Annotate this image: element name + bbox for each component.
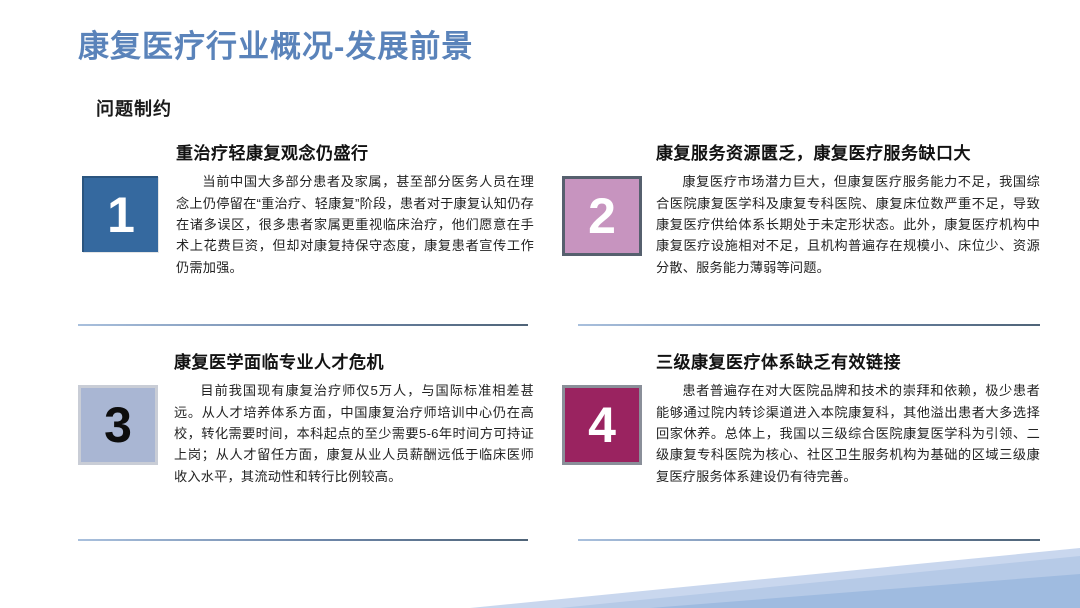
page-title-container: 康复医疗行业概况-发展前景 xyxy=(78,30,473,64)
decorative-corner-shape xyxy=(0,0,1080,608)
issue-number-badge-3: 3 xyxy=(78,385,158,465)
issue-text-1: 当前中国大多部分患者及家属，甚至部分医务人员在理念上仍停留在“重治疗、轻康复”阶… xyxy=(176,171,534,278)
issue-heading-3: 康复医学面临专业人才危机 xyxy=(174,352,534,373)
page-subtitle: 问题制约 xyxy=(96,95,172,121)
issue-card-2: 2 康复服务资源匮乏，康复医疗服务缺口大 康复医疗市场潜力巨大，但康复医疗服务能… xyxy=(562,143,1040,278)
divider-mid-right xyxy=(578,324,1040,326)
issue-number-column-3: 3 xyxy=(78,352,158,465)
issue-card-1: 1 重治疗轻康复观念仍盛行 当前中国大多部分患者及家属，甚至部分医务人员在理念上… xyxy=(82,143,534,278)
divider-bottom-left xyxy=(78,539,528,541)
issue-number-badge-1: 1 xyxy=(82,176,158,252)
divider-bottom-right xyxy=(578,539,1040,541)
issue-text-3: 目前我国现有康复治疗师仅5万人，与国际标准相差甚远。从人才培养体系方面，中国康复… xyxy=(174,380,534,487)
slide-canvas: 康复医疗行业概况-发展前景 问题制约 1 重治疗轻康复观念仍盛行 当前中国大多部… xyxy=(0,0,1080,608)
issue-number-column-1: 1 xyxy=(82,143,158,252)
issue-number-column-2: 2 xyxy=(562,143,642,256)
issue-card-3: 3 康复医学面临专业人才危机 目前我国现有康复治疗师仅5万人，与国际标准相差甚远… xyxy=(78,352,534,487)
deco-wedge-light xyxy=(470,548,1080,608)
page-title: 康复医疗行业概况-发展前景 xyxy=(78,30,473,64)
deco-wedge-dark xyxy=(650,574,1080,608)
issue-body-4: 三级康复医疗体系缺乏有效链接 患者普遍存在对大医院品牌和技术的崇拜和依赖，极少患… xyxy=(642,352,1040,487)
divider-mid-left xyxy=(78,324,528,326)
issue-text-4: 患者普遍存在对大医院品牌和技术的崇拜和依赖，极少患者能够通过院内转诊渠道进入本院… xyxy=(656,380,1040,487)
issue-number-badge-4: 4 xyxy=(562,385,642,465)
issue-heading-4: 三级康复医疗体系缺乏有效链接 xyxy=(656,352,1040,373)
issue-number-badge-2: 2 xyxy=(562,176,642,256)
issue-body-3: 康复医学面临专业人才危机 目前我国现有康复治疗师仅5万人，与国际标准相差甚远。从… xyxy=(158,352,534,487)
issue-heading-1: 重治疗轻康复观念仍盛行 xyxy=(176,143,534,164)
issue-number-column-4: 4 xyxy=(562,352,642,465)
issue-card-4: 4 三级康复医疗体系缺乏有效链接 患者普遍存在对大医院品牌和技术的崇拜和依赖，极… xyxy=(562,352,1040,487)
issue-body-2: 康复服务资源匮乏，康复医疗服务缺口大 康复医疗市场潜力巨大，但康复医疗服务能力不… xyxy=(642,143,1040,278)
issue-body-1: 重治疗轻康复观念仍盛行 当前中国大多部分患者及家属，甚至部分医务人员在理念上仍停… xyxy=(158,143,534,278)
deco-wedge-mid xyxy=(560,556,1080,608)
issue-heading-2: 康复服务资源匮乏，康复医疗服务缺口大 xyxy=(656,143,1040,164)
issue-text-2: 康复医疗市场潜力巨大，但康复医疗服务能力不足，我国综合医院康复医学科及康复专科医… xyxy=(656,171,1040,278)
